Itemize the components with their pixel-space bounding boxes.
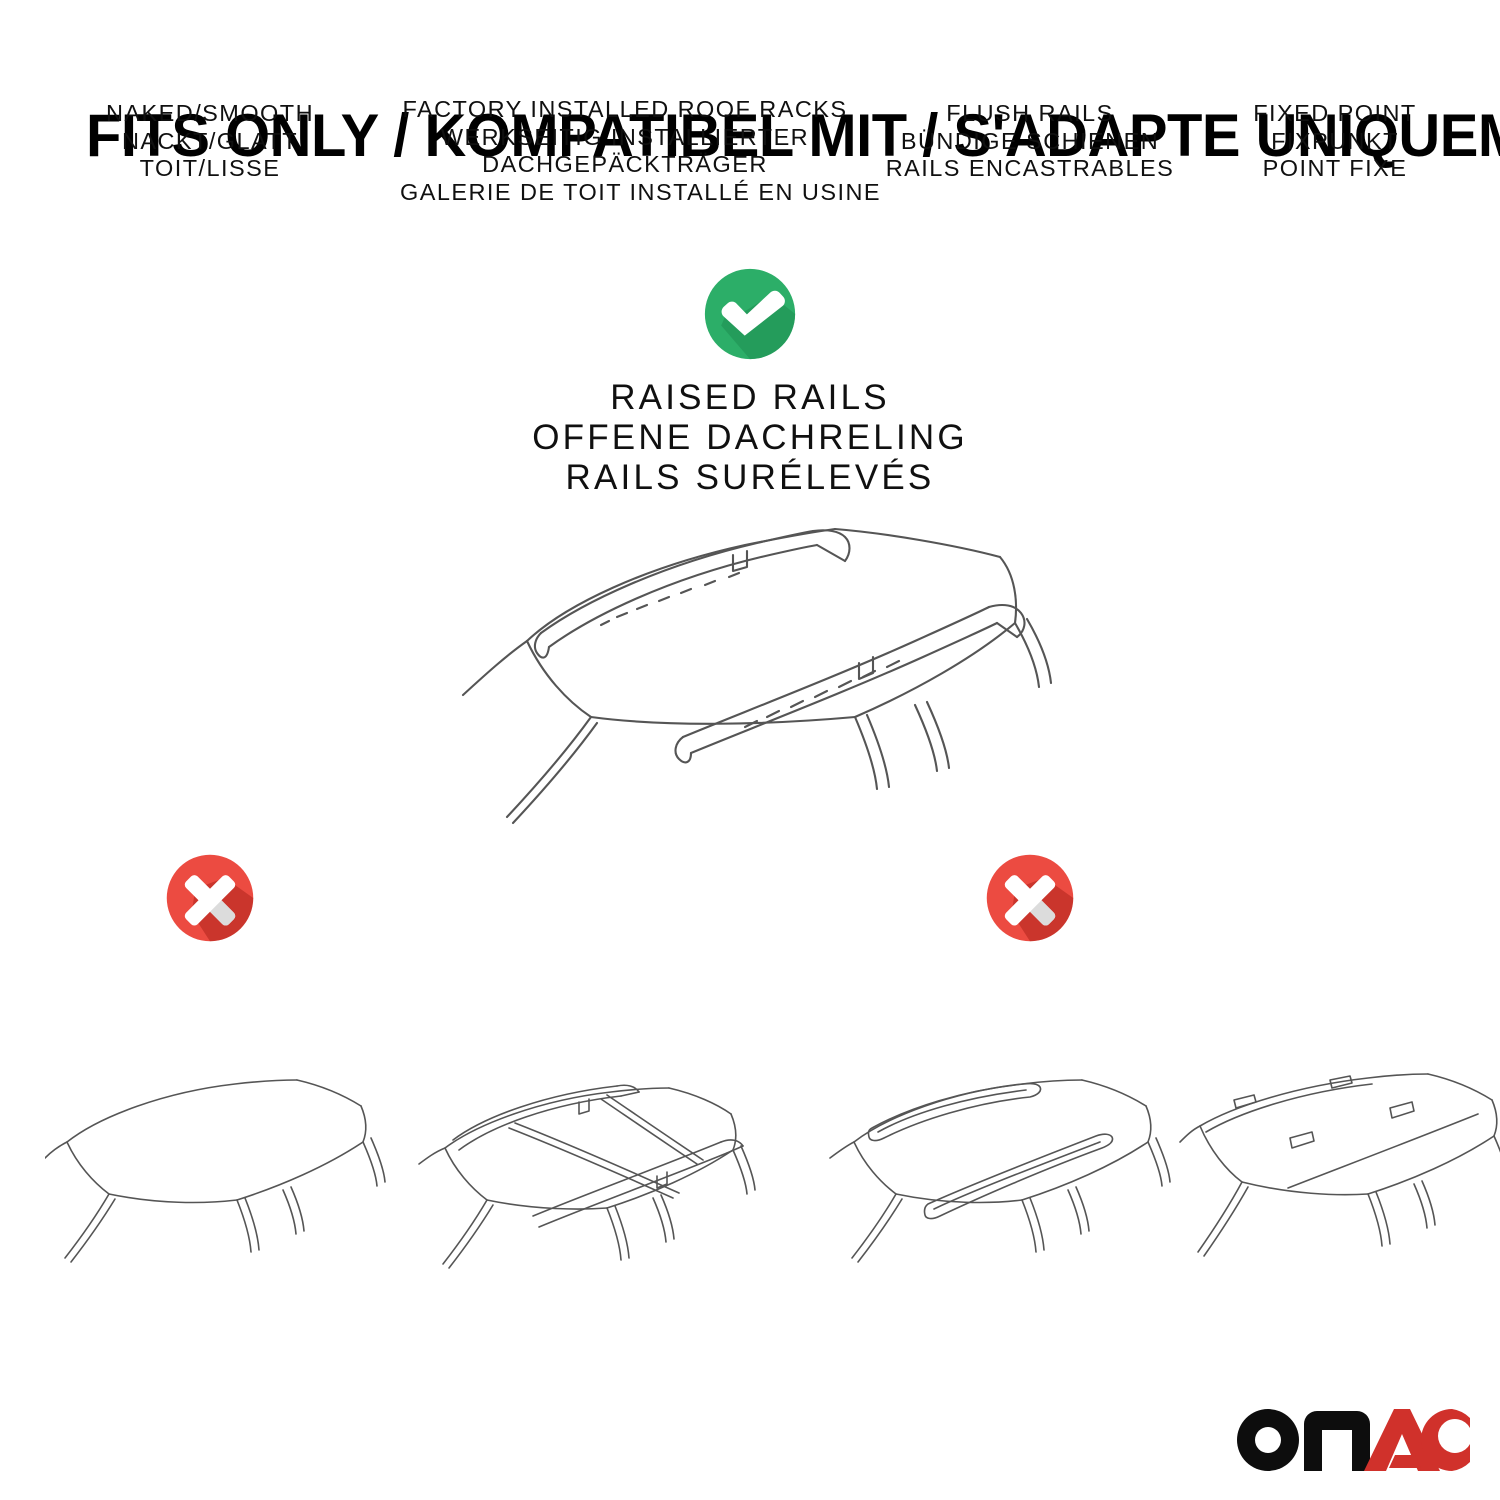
car-roof-factory-installed-racks-illustration: [405, 1070, 765, 1280]
label-line-1: FACTORY INSTALLED ROOF RACKS: [400, 96, 850, 124]
compatible-label-line-2: OFFENE DACHRELING: [380, 418, 1120, 458]
label-line-1: FIXED POINT: [1180, 100, 1490, 128]
label-line-2: BÜNDIGE SCHIENEN: [860, 128, 1200, 156]
compatible-label-line-3: RAILS SURÉLEVÉS: [380, 458, 1120, 498]
label-line-3: POINT FIXE: [1180, 155, 1490, 183]
incompatible-label-factory-racks: FACTORY INSTALLED ROOF RACKS WERKSEITIG …: [400, 96, 850, 206]
omac-logo: [1232, 1400, 1470, 1472]
label-line-2: WERKSEITIG INSTALLIERTER: [400, 124, 850, 152]
cross-circle-icon: [164, 852, 256, 944]
label-line-2: NACKT/GLATT: [45, 128, 375, 156]
car-roof-naked-smooth-illustration: [45, 1070, 390, 1270]
label-line-3: RAILS ENCASTRABLES: [860, 155, 1200, 183]
incompatible-label-flush-rails: FLUSH RAILS BÜNDIGE SCHIENEN RAILS ENCAS…: [860, 100, 1200, 183]
label-line-1: FLUSH RAILS: [860, 100, 1200, 128]
incompatible-label-naked-smooth: NAKED/SMOOTH NACKT/GLATT TOIT/LISSE: [45, 100, 375, 183]
car-roof-raised-rails-illustration: [415, 505, 1085, 835]
label-line-4: GALERIE DE TOIT INSTALLÉ EN USINE: [400, 179, 850, 207]
label-line-2: FIXPUNKT: [1180, 128, 1490, 156]
compatible-label: RAISED RAILS OFFENE DACHRELING RAILS SUR…: [380, 378, 1120, 498]
car-roof-fixed-point-illustration: [1178, 1070, 1500, 1270]
cross-circle-icon: [984, 852, 1076, 944]
incompatible-label-fixed-point: FIXED POINT FIXPUNKT POINT FIXE: [1180, 100, 1490, 183]
check-circle-icon: [702, 266, 798, 362]
fitment-infographic: FITS ONLY / KOMPATIBEL MIT / S'ADAPTE UN…: [0, 0, 1500, 1500]
label-line-3: DACHGEPÄCKTRÄGER: [400, 151, 850, 179]
compatible-label-line-1: RAISED RAILS: [380, 378, 1120, 418]
label-line-1: NAKED/SMOOTH: [45, 100, 375, 128]
car-roof-flush-rails-illustration: [828, 1070, 1183, 1275]
label-line-3: TOIT/LISSE: [45, 155, 375, 183]
